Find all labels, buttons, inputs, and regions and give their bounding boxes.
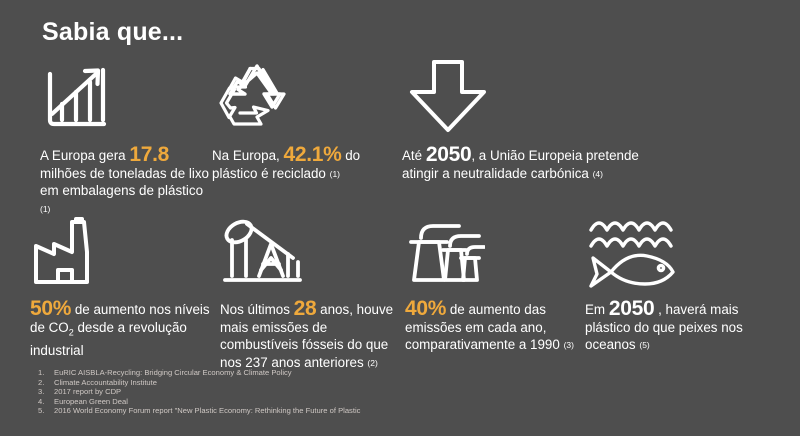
footnote-item: 4. European Green Deal [38, 397, 360, 407]
page-title: Sabia que... [42, 18, 183, 47]
footnote-text: EuRIC AISBLA-Recycling: Bridging Circula… [54, 368, 360, 378]
stat-highlight: 2050 [609, 297, 655, 320]
footnote-number: 3. [38, 387, 54, 397]
stat-pre: A Europa gera [40, 148, 129, 163]
footnote-number: 4. [38, 397, 54, 407]
footnote-number: 1. [38, 368, 54, 378]
infographic-page: Sabia que... A Europa [0, 0, 800, 436]
stat-text: Nos últimos 28 anos, houve mais emissões… [220, 300, 405, 372]
stat-reference: (4) [593, 169, 603, 179]
stat-reference: (3) [564, 340, 574, 350]
stat-text: 50% de aumento nos níveis de CO2 desde a… [30, 300, 220, 359]
footnote-item: 5. 2016 World Economy Forum report "New … [38, 406, 360, 416]
stats-row-top: A Europa gera 17.8 milhões de toneladas … [40, 58, 770, 218]
stat-highlight: 50% [30, 297, 71, 320]
footnote-text: Climate Accountability Institute [54, 378, 360, 388]
stat-block-eu-carbon-neutrality: Até 2050, a União Europeia pretende atin… [402, 58, 652, 218]
oil-pumpjack-icon [220, 212, 405, 288]
stat-text: A Europa gera 17.8 milhões de toneladas … [40, 146, 212, 218]
stat-block-fossil-emissions: Nos últimos 28 anos, houve mais emissões… [220, 212, 405, 372]
stat-highlight: 40% [405, 297, 446, 320]
footnote-item: 1. EuRIC AISBLA-Recycling: Bridging Circ… [38, 368, 360, 378]
stat-text: Na Europa, 42.1% do plástico é reciclado… [212, 146, 402, 183]
stat-highlight: 17.8 [129, 143, 169, 166]
stat-block-recycling-rate: Na Europa, 42.1% do plástico é reciclado… [212, 58, 402, 218]
stat-block-co2-levels: 50% de aumento nos níveis de CO2 desde a… [30, 212, 220, 372]
footnote-number: 5. [38, 406, 54, 416]
factory-icon [30, 212, 220, 288]
stat-highlight: 28 [294, 297, 317, 320]
stats-row-bottom: 50% de aumento nos níveis de CO2 desde a… [30, 212, 790, 372]
stat-reference: (2) [367, 358, 377, 368]
recycling-icon [212, 58, 402, 134]
down-arrow-icon [402, 58, 652, 134]
footnotes-list: 1. EuRIC AISBLA-Recycling: Bridging Circ… [38, 368, 360, 416]
footnote-text: European Green Deal [54, 397, 360, 407]
stat-highlight: 42.1% [283, 143, 341, 166]
stat-block-europe-waste: A Europa gera 17.8 milhões de toneladas … [40, 58, 212, 218]
stat-pre: Até [402, 148, 426, 163]
stat-pre: Na Europa, [212, 148, 283, 163]
stat-text: Em 2050 , haverá mais plástico do que pe… [585, 300, 785, 355]
stat-text: Até 2050, a União Europeia pretende atin… [402, 146, 652, 183]
stat-post: milhões de toneladas de lixo em embalage… [40, 166, 209, 199]
cooling-towers-icon [405, 212, 585, 288]
stat-block-annual-emissions: 40% de aumento das emissões em cada ano,… [405, 212, 585, 372]
stat-text: 40% de aumento das emissões em cada ano,… [405, 300, 585, 355]
stat-pre: Nos últimos [220, 302, 294, 317]
footnote-item: 2. Climate Accountability Institute [38, 378, 360, 388]
footnote-item: 3. 2017 report by CDP [38, 387, 360, 397]
stat-reference: (5) [639, 340, 649, 350]
fish-waves-icon [585, 212, 785, 288]
stat-highlight: 2050 [426, 143, 472, 166]
stat-pre: Em [585, 302, 609, 317]
stat-reference: (1) [330, 169, 340, 179]
footnote-number: 2. [38, 378, 54, 388]
bar-chart-growth-icon [40, 58, 212, 134]
footnote-text: 2017 report by CDP [54, 387, 360, 397]
stat-block-ocean-plastic: Em 2050 , haverá mais plástico do que pe… [585, 212, 785, 372]
footnote-text: 2016 World Economy Forum report "New Pla… [54, 406, 360, 416]
